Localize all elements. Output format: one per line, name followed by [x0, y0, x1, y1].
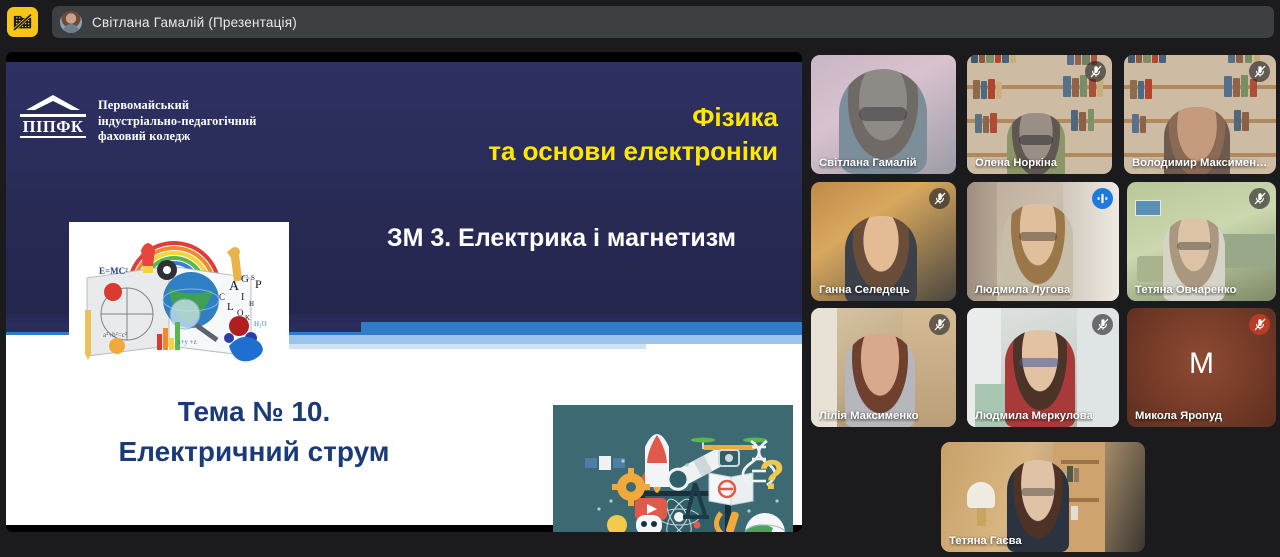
participant-tile[interactable]: Світлана Гамалій — [811, 55, 956, 174]
participant-tile-avatar[interactable]: M Микола Яропуд — [1127, 308, 1276, 427]
mic-off-icon — [1249, 61, 1270, 82]
slide-theme-title: Тема № 10. Електричний струм — [44, 392, 464, 472]
mic-off-icon — [1092, 314, 1113, 335]
participant-tile[interactable]: Людмила Меркулова — [967, 308, 1119, 427]
top-bar: Світлана Гамалій (Презентація) — [0, 0, 1280, 44]
screen-share-off-icon[interactable] — [7, 7, 38, 37]
presentation-slide: ПІПФК Первомайський індустріально-педаго… — [6, 62, 802, 525]
participant-name: Тетяна Овчаренко — [1135, 284, 1236, 296]
svg-text:A: A — [229, 279, 240, 294]
svg-text:P: P — [255, 277, 262, 291]
slide-module-title: ЗМ 3. Електрика і магнетизм — [216, 224, 736, 253]
participant-name: Микола Яропуд — [1135, 410, 1222, 422]
participant-tile[interactable]: Володимир Максимен… — [1124, 55, 1276, 174]
svg-text:E=MC²: E=MC² — [99, 266, 128, 276]
participant-tile[interactable]: Лілія Максименко — [811, 308, 956, 427]
slide-theme-line1: Тема № 10. — [44, 392, 464, 432]
slide-main-title: Фізика та основи електроніки — [298, 100, 778, 168]
svg-text:I: I — [241, 292, 244, 303]
mic-off-icon — [929, 188, 950, 209]
logo-text-line3: фаховий коледж — [98, 129, 257, 145]
audio-wave-icon — [1092, 188, 1113, 209]
participant-name: Світлана Гамалій — [819, 157, 917, 169]
slide-title-line2: та основи електроніки — [298, 134, 778, 168]
mic-off-icon — [929, 314, 950, 335]
svg-text:C: C — [219, 292, 225, 302]
logo-abbreviation: ПІПФК — [20, 117, 86, 136]
participant-name: Людмила Меркулова — [975, 410, 1093, 422]
participant-name: Ганна Селедець — [819, 284, 910, 296]
participant-tile-active-speaker[interactable]: Людмила Лугова — [967, 182, 1119, 301]
participant-tile[interactable]: Тетяна Гаєва — [941, 442, 1145, 552]
shared-screen[interactable]: ПІПФК Первомайський індустріально-педаго… — [6, 52, 802, 532]
participant-name: Володимир Максимен… — [1132, 157, 1267, 169]
avatar-initial: M — [1189, 347, 1214, 381]
mic-off-icon — [1249, 314, 1270, 335]
svg-text:x+y +z: x+y +z — [177, 338, 197, 346]
college-logo: ПІПФК Первомайський індустріально-педаго… — [20, 95, 257, 145]
participant-tile[interactable]: Тетяна Овчаренко — [1127, 182, 1276, 301]
participant-name: Олена Норкіна — [975, 157, 1057, 169]
participant-tile[interactable]: Олена Норкіна — [967, 55, 1112, 174]
svg-text:L: L — [227, 301, 234, 313]
participant-name: Тетяна Гаєва — [949, 535, 1022, 547]
presenter-name: Світлана Гамалій (Презентація) — [92, 15, 297, 30]
logo-text: Первомайський індустріально-педагогічний… — [98, 95, 257, 145]
participant-name: Лілія Максименко — [819, 410, 919, 422]
meeting-window: Світлана Гамалій (Презентація) ПІПФК Пер… — [0, 0, 1280, 557]
slide-theme-line2: Електричний струм — [44, 432, 464, 472]
science-illustration-image: ? — [553, 405, 793, 532]
logo-mark-icon: ПІПФК — [20, 95, 86, 138]
slide-title-line1: Фізика — [298, 100, 778, 134]
avatar — [60, 11, 82, 33]
logo-text-line1: Первомайський — [98, 98, 257, 114]
mic-off-icon — [1249, 188, 1270, 209]
participant-tile[interactable]: Ганна Селедець — [811, 182, 956, 301]
svg-text:G: G — [241, 273, 249, 285]
svg-text:a²+b²=c²: a²+b²=c² — [103, 331, 127, 339]
participant-name: Людмила Лугова — [975, 284, 1070, 296]
svg-text:?: ? — [759, 451, 785, 498]
svg-text:H: H — [249, 300, 254, 308]
svg-text:H₂O: H₂O — [254, 320, 267, 328]
education-collage-image: E=MC² a²+b²=c² — [69, 222, 289, 362]
presenter-pill[interactable]: Світлана Гамалій (Презентація) — [52, 6, 1274, 38]
logo-text-line2: індустріально-педагогічний — [98, 114, 257, 130]
mic-off-icon — [1085, 61, 1106, 82]
